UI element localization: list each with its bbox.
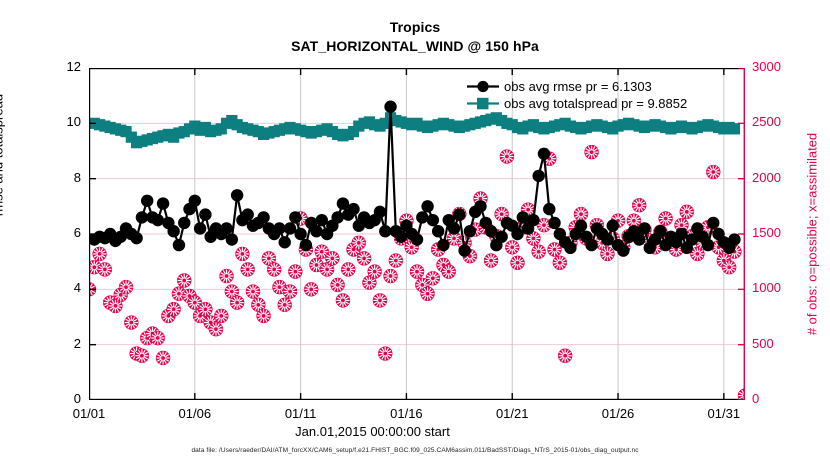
x-tick-label: 01/26 [583,406,653,421]
y-axis-right-label: # of obs: o=possible; x=assimilated [805,133,820,335]
y-tick-label-left: 6 [37,225,81,240]
y-tick-label-left: 8 [37,170,81,185]
legend-marker-circle-icon [466,79,500,94]
series-obs-assimilated [89,145,745,400]
y-tick-label-right: 1500 [752,225,804,240]
y-tick-label-left: 0 [37,391,81,406]
legend-label-totalspread: obs avg totalspread pr = 9.8852 [504,95,687,112]
x-axis-label: Jan.01,2015 00:00:00 start [0,424,745,439]
legend-marker-square-icon [466,96,500,111]
x-tick-label: 01/11 [266,406,336,421]
y-tick-label-right: 2500 [752,114,804,129]
legend-item-totalspread: obs avg totalspread pr = 9.8852 [466,95,687,112]
title-line-1: Tropics [0,18,830,37]
plot-area [89,68,745,400]
y-tick-label-right: 0 [752,391,804,406]
x-tick-label: 01/16 [371,406,441,421]
chart-title: Tropics SAT_HORIZONTAL_WIND @ 150 hPa [0,18,830,56]
y-tick-label-right: 3000 [752,59,804,74]
legend-label-rmse: obs avg rmse pr = 6.1303 [504,78,652,95]
x-tick-label: 01/31 [689,406,759,421]
figure-canvas: Tropics SAT_HORIZONTAL_WIND @ 150 hPa rm… [0,0,830,470]
chart-legend: obs avg rmse pr = 6.1303 obs avg totalsp… [466,78,687,112]
y-tick-label-right: 2000 [752,170,804,185]
y-tick-label-left: 10 [37,114,81,129]
y-tick-label-right: 500 [752,336,804,351]
legend-item-rmse: obs avg rmse pr = 6.1303 [466,78,687,95]
chart-svg [89,68,745,400]
x-tick-label: 01/06 [160,406,230,421]
data-file-footer: data file: /Users/raeder/DAI/ATM_forcXX/… [0,447,830,454]
x-tick-label: 01/01 [54,406,124,421]
y-tick-label-left: 2 [37,336,81,351]
y-axis-left-label: rmse and totalspread [0,94,6,216]
series-totalspread [89,112,740,148]
x-tick-label: 01/21 [477,406,547,421]
y-tick-label-left: 4 [37,280,81,295]
title-line-2: SAT_HORIZONTAL_WIND @ 150 hPa [0,37,830,56]
y-tick-label-left: 12 [37,59,81,74]
y-tick-label-right: 1000 [752,280,804,295]
